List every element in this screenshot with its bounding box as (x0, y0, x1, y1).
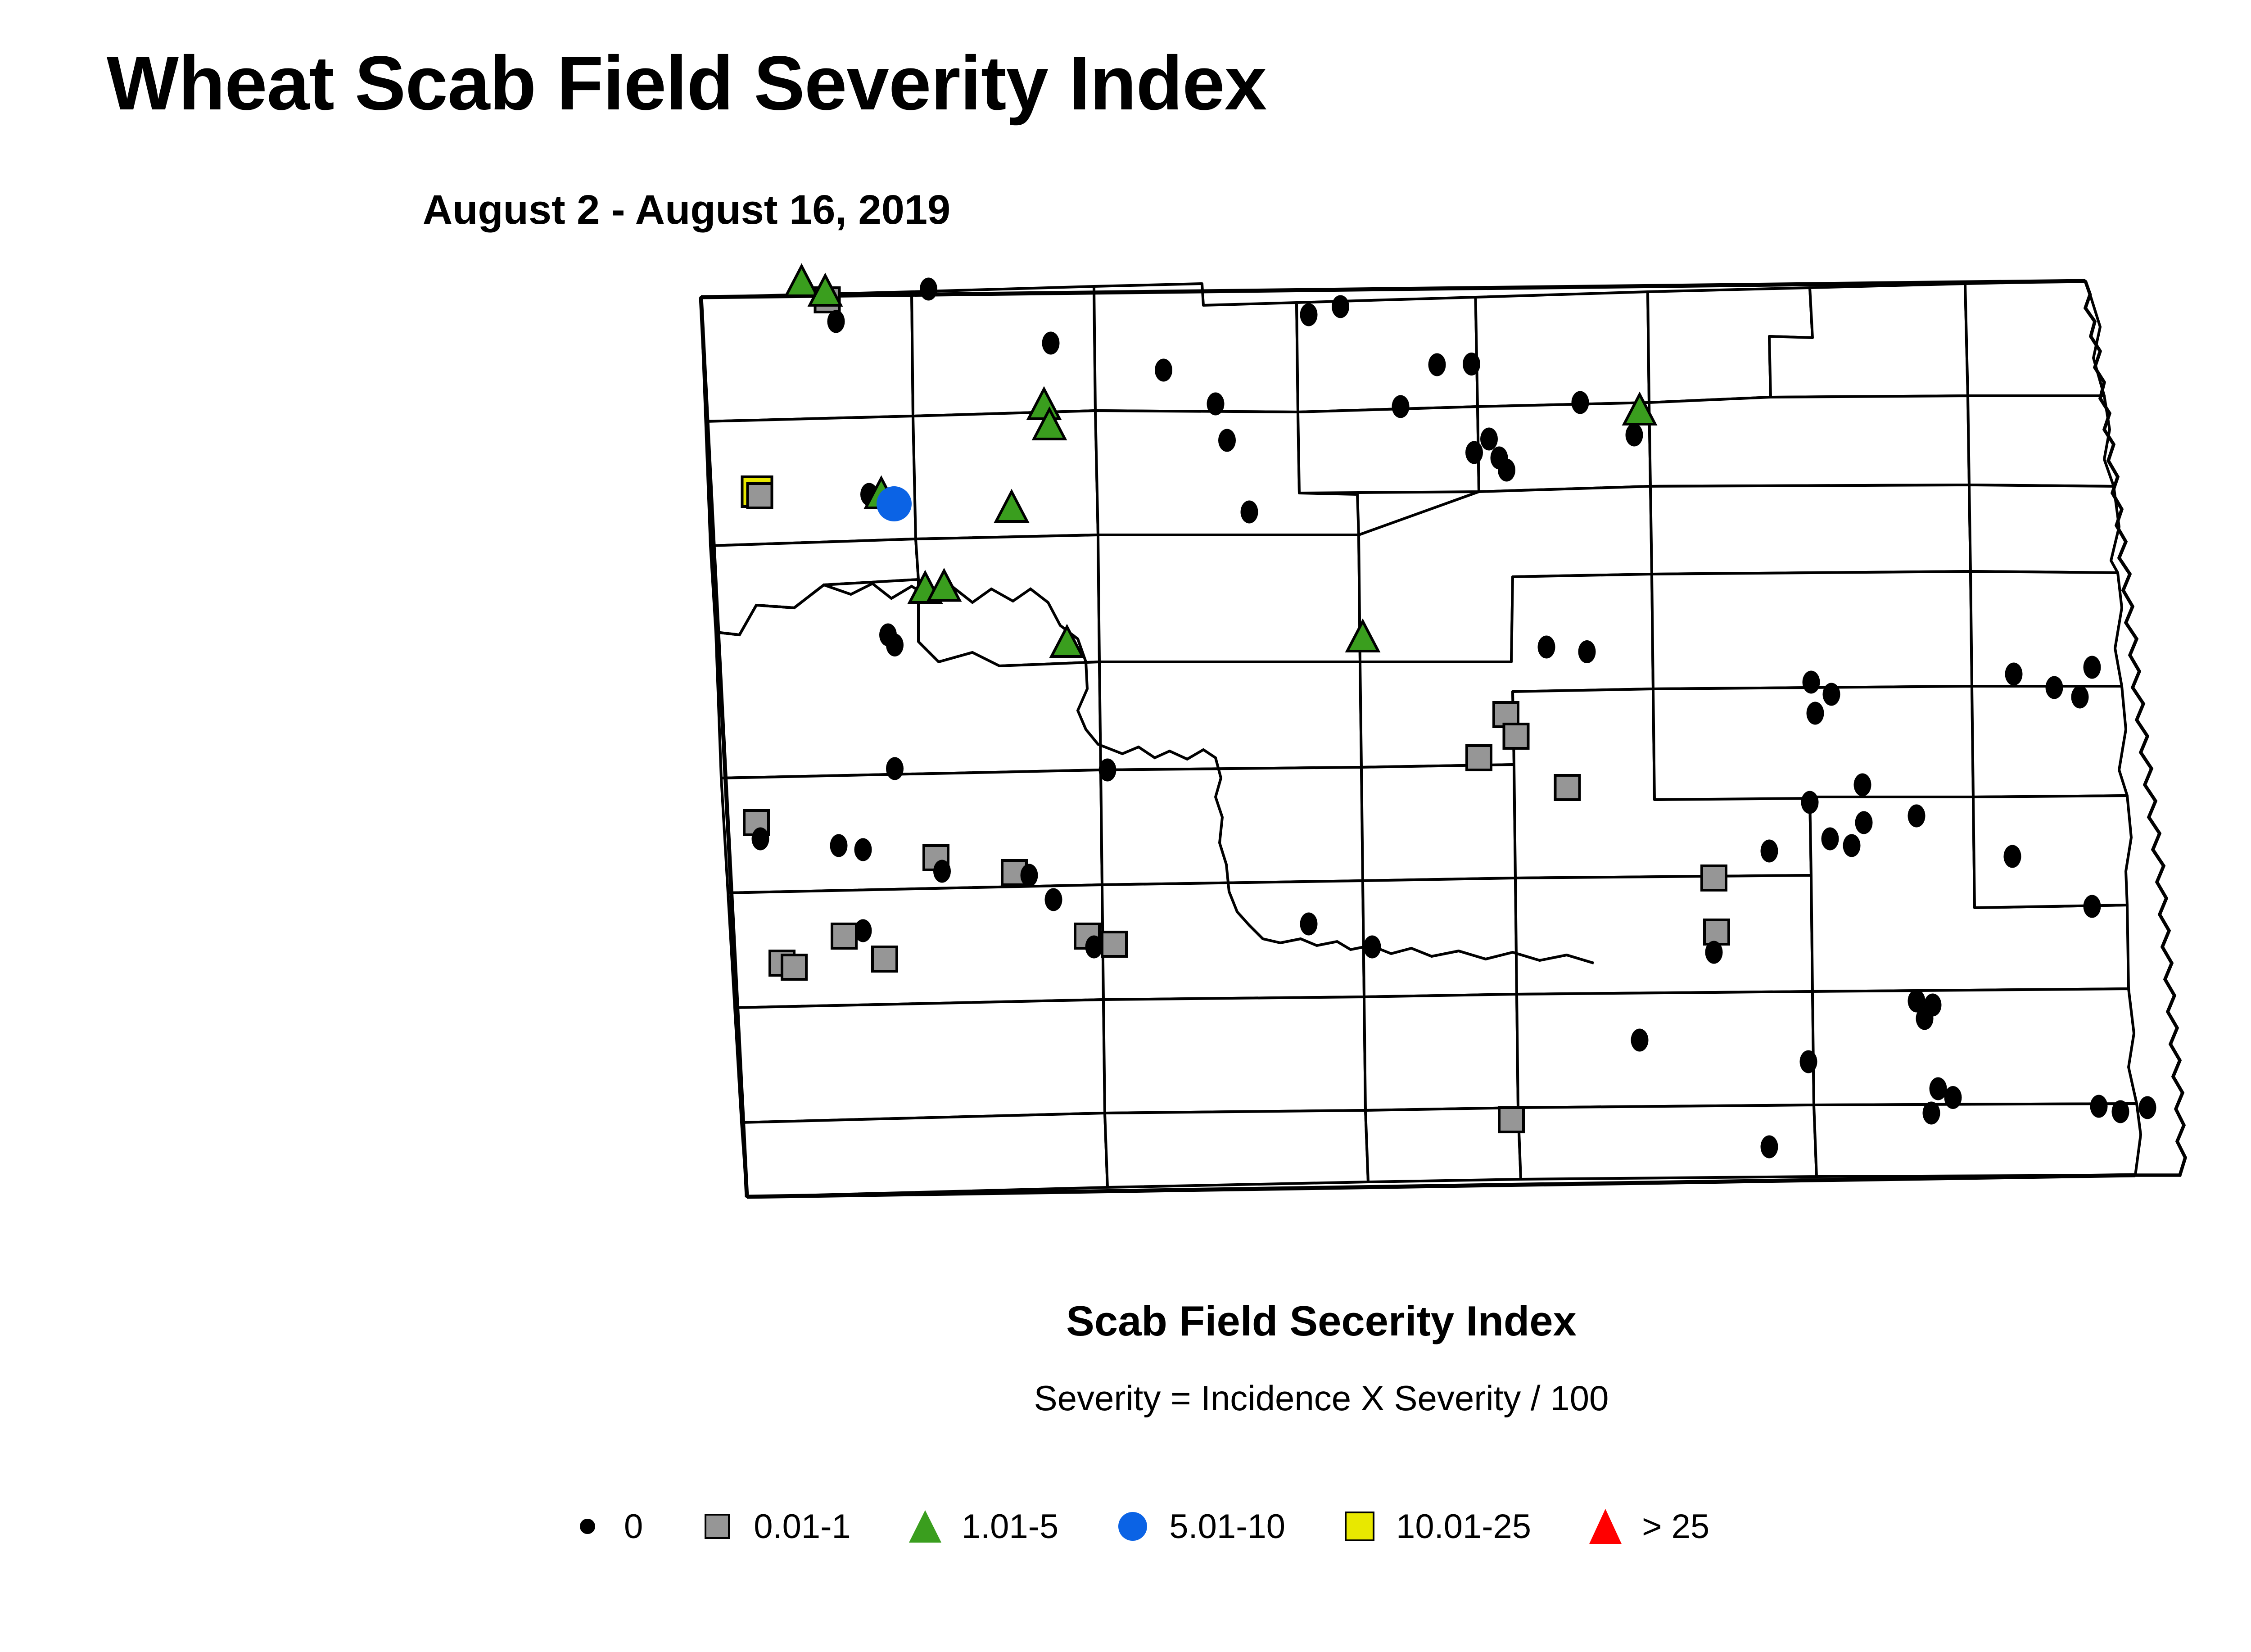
severity-marker-0[interactable] (933, 860, 951, 883)
severity-marker-0[interactable] (1085, 936, 1103, 959)
legend-label-5: > 25 (1642, 1507, 1709, 1546)
severity-marker-0[interactable] (886, 634, 904, 656)
severity-marker-0[interactable] (1392, 395, 1410, 418)
severity-marker-0[interactable] (1631, 1029, 1649, 1052)
severity-marker-0[interactable] (1705, 941, 1723, 964)
severity-marker-0[interactable] (2005, 663, 2023, 686)
severity-marker-0[interactable] (2139, 1096, 2156, 1119)
green-triangle-icon (900, 1499, 950, 1553)
severity-marker-0[interactable] (830, 834, 848, 857)
date-range-subtitle: August 2 - August 16, 2019 (0, 189, 1373, 231)
severity-marker-0[interactable] (1300, 303, 1318, 326)
legend-label-2: 1.01-5 (962, 1507, 1059, 1546)
severity-marker-0[interactable] (1241, 501, 1258, 524)
legend: 0 0.01-1 1.01-5 5.01-10 10.01-25 > 25 (563, 1486, 2228, 1567)
legend-label-0: 0 (624, 1507, 643, 1546)
severity-marker-0[interactable] (1578, 640, 1596, 663)
severity-marker-0[interactable] (1207, 393, 1225, 416)
severity-marker-0.01-1[interactable] (748, 484, 772, 508)
severity-marker-0.01-1[interactable] (1467, 746, 1491, 770)
legend-label-1: 0.01-1 (754, 1507, 851, 1546)
severity-marker-0.01-1[interactable] (782, 955, 806, 979)
severity-marker-0.01-1[interactable] (1555, 775, 1580, 800)
map-svg (621, 257, 2242, 1216)
severity-marker-0[interactable] (1626, 424, 1643, 447)
severity-marker-0[interactable] (1463, 353, 1480, 376)
severity-marker-0.01-1[interactable] (832, 924, 856, 948)
severity-marker-0[interactable] (752, 828, 769, 851)
severity-marker-0[interactable] (1155, 359, 1172, 382)
severity-marker-0[interactable] (1021, 864, 1038, 887)
legend-item-3[interactable]: 5.01-10 (1108, 1486, 1285, 1567)
severity-marker-0[interactable] (920, 278, 937, 301)
legend-item-5[interactable]: > 25 (1581, 1486, 1709, 1567)
severity-marker-0[interactable] (1332, 295, 1349, 318)
severity-marker-0[interactable] (1822, 828, 1839, 851)
severity-marker-0.01-1[interactable] (1504, 724, 1528, 748)
severity-marker-0[interactable] (1045, 888, 1062, 911)
severity-marker-0[interactable] (1218, 429, 1236, 452)
severity-marker-0[interactable] (1364, 936, 1381, 959)
severity-marker-0[interactable] (2090, 1095, 2108, 1118)
severity-marker-0[interactable] (1854, 774, 1871, 797)
legend-label-4: 10.01-25 (1396, 1507, 1531, 1546)
severity-marker-0[interactable] (1428, 353, 1446, 376)
page-title: Wheat Scab Field Severity Index (0, 45, 1373, 122)
legend-formula: Severity = Incidence X Severity / 100 (0, 1378, 2251, 1419)
severity-marker-0[interactable] (1908, 805, 1926, 828)
severity-marker-0[interactable] (2084, 895, 2101, 918)
severity-marker-0[interactable] (1498, 459, 1515, 482)
county-polygons (701, 281, 2141, 1197)
severity-marker-0[interactable] (1761, 1136, 1778, 1159)
severity-marker-0[interactable] (1801, 791, 1819, 814)
poster-canvas: Wheat Scab Field Severity Index August 2… (0, 0, 2251, 1652)
severity-marker-0.01-1[interactable] (1102, 932, 1126, 956)
severity-marker-0[interactable] (1538, 636, 1555, 659)
blue-circle-icon (1108, 1499, 1157, 1553)
severity-marker-0[interactable] (1042, 332, 1060, 355)
severity-marker-5.01-10[interactable] (877, 486, 912, 521)
severity-marker-0[interactable] (1803, 671, 1820, 694)
north-dakota-county-map[interactable] (621, 257, 2242, 1216)
legend-item-2[interactable]: 1.01-5 (900, 1486, 1059, 1567)
severity-marker-0.01-1[interactable] (1499, 1108, 1523, 1132)
severity-marker-0[interactable] (827, 310, 845, 333)
severity-marker-0.01-1[interactable] (872, 947, 897, 971)
severity-marker-0[interactable] (1823, 683, 1840, 706)
red-triangle-icon (1581, 1499, 1630, 1553)
severity-marker-0[interactable] (2084, 656, 2101, 679)
severity-marker-0[interactable] (2071, 686, 2089, 709)
legend-item-4[interactable]: 10.01-25 (1335, 1486, 1531, 1567)
severity-marker-0[interactable] (2112, 1100, 2129, 1123)
severity-marker-0[interactable] (1480, 428, 1498, 451)
severity-marker-0.01-1[interactable] (1702, 866, 1726, 890)
legend-item-1[interactable]: 0.01-1 (692, 1486, 851, 1567)
severity-marker-0[interactable] (1843, 834, 1861, 857)
yellow-square-icon (1335, 1499, 1384, 1553)
severity-marker-0[interactable] (886, 757, 904, 780)
severity-marker-0[interactable] (854, 838, 872, 861)
severity-marker-0[interactable] (1807, 702, 1824, 725)
severity-marker-0[interactable] (1465, 441, 1483, 464)
severity-marker-0.01-1[interactable] (1704, 920, 1729, 944)
severity-marker-0[interactable] (1916, 1007, 1934, 1030)
gray-square-icon (692, 1499, 742, 1553)
severity-marker-0[interactable] (1800, 1050, 1817, 1073)
legend-item-0[interactable]: 0 (563, 1486, 643, 1567)
severity-marker-1.01-5[interactable] (786, 266, 817, 296)
severity-marker-0[interactable] (1572, 391, 1589, 414)
severity-marker-0[interactable] (2004, 845, 2021, 868)
black-dot-icon (563, 1499, 612, 1553)
severity-marker-0[interactable] (1944, 1086, 1962, 1109)
severity-marker-0[interactable] (2046, 676, 2063, 699)
severity-marker-0[interactable] (1923, 1102, 1940, 1125)
legend-title: Scab Field Secerity Index (0, 1297, 2251, 1345)
severity-marker-0[interactable] (1761, 840, 1778, 863)
legend-label-3: 5.01-10 (1169, 1507, 1285, 1546)
severity-marker-0[interactable] (1099, 759, 1116, 782)
severity-marker-0[interactable] (1855, 811, 1873, 834)
severity-marker-0[interactable] (1300, 913, 1318, 936)
